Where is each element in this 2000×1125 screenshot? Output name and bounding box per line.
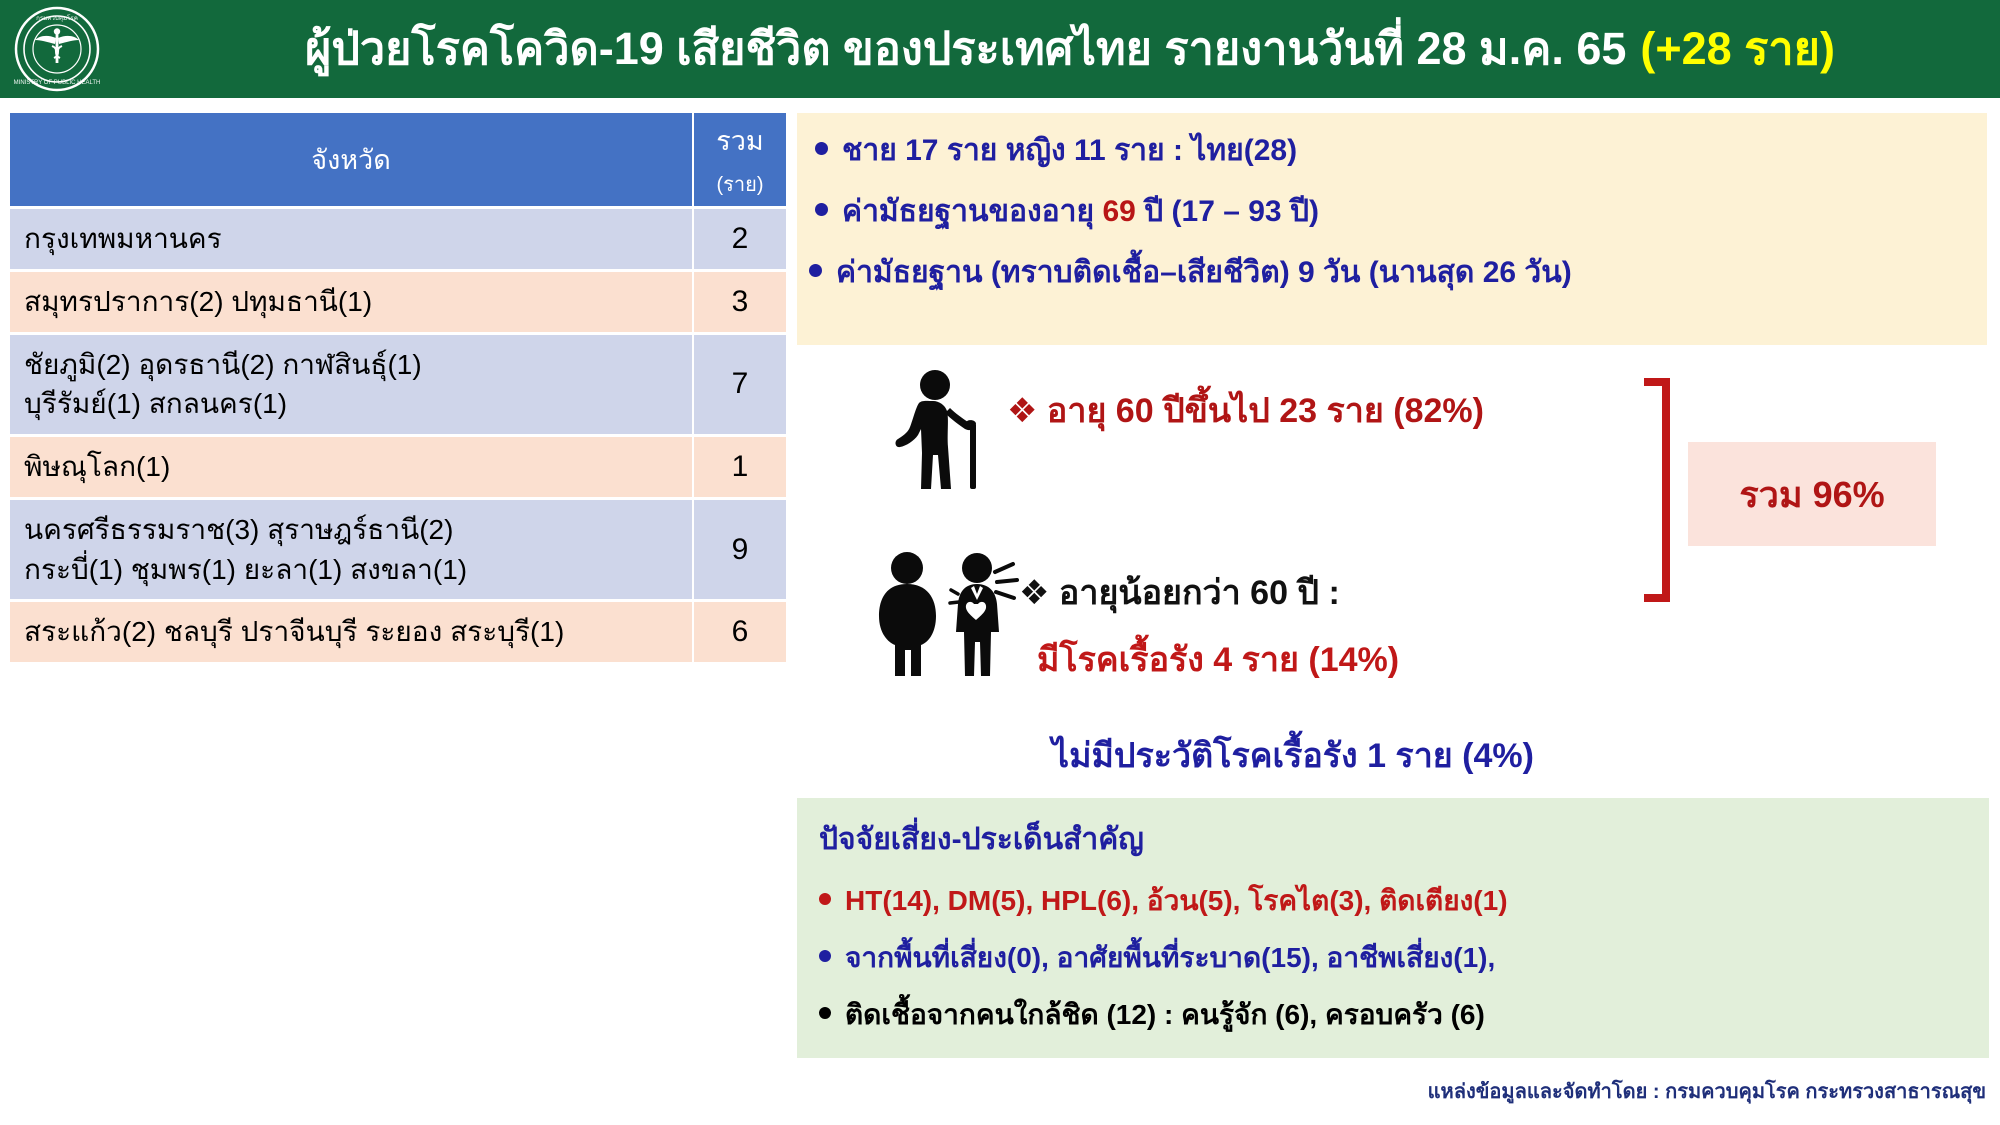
- median-age-prefix: ค่ามัธยฐานของอายุ: [842, 195, 1102, 228]
- table-row: กรุงเทพมหานคร2: [10, 209, 786, 269]
- risk-comorbidities-text: HT(14), DM(5), HPL(6), อ้วน(5), โรคไต(3)…: [845, 879, 1508, 923]
- risk-item-close-contact: ติดเชื้อจากคนใกล้ชิด (12) : คนรู้จัก (6)…: [819, 993, 1979, 1037]
- header-banner: กรมควบคุมโรค MINISTRY OF PUBLIC HEALTH ผ…: [0, 0, 2000, 98]
- column-header-province: จังหวัด: [10, 113, 692, 206]
- cell-total: 2: [694, 209, 786, 269]
- page-title: ผู้ป่วยโรคโควิด-19 เสียชีวิต ของประเทศไท…: [305, 0, 1626, 98]
- bullet-icon: [819, 950, 831, 962]
- province-line: นครศรีธรรมราช(3) สุราษฎร์ธานี(2): [24, 510, 678, 550]
- risk-factors-panel: ปัจจัยเสี่ยง-ประเด็นสำคัญ HT(14), DM(5),…: [797, 798, 1989, 1058]
- risk-factors-title: ปัจจัยเสี่ยง-ประเด็นสำคัญ: [819, 816, 1979, 863]
- ministry-of-public-health-seal-icon: กรมควบคุมโรค MINISTRY OF PUBLIC HEALTH: [14, 6, 100, 92]
- cell-provinces: นครศรีธรรมราช(3) สุราษฎร์ธานี(2)กระบี่(1…: [10, 500, 692, 600]
- combined-percentage-label: รวม 96%: [1739, 466, 1884, 523]
- table-body: กรุงเทพมหานคร2สมุทรปราการ(2) ปทุมธานี(1)…: [10, 209, 786, 662]
- table-row: สมุทรปราการ(2) ปทุมธานี(1)3: [10, 272, 786, 332]
- column-header-total-unit: (ราย): [698, 168, 782, 200]
- cell-total: 7: [694, 335, 786, 435]
- table-row: พิษณุโลก(1)1: [10, 437, 786, 497]
- cell-provinces: สระแก้ว(2) ชลบุรี ปราจีนบุรี ระยอง สระบุ…: [10, 602, 692, 662]
- province-line: กระบี่(1) ชุมพร(1) ยะลา(1) สงขลา(1): [24, 550, 678, 590]
- summary-item-median-age: ค่ามัธยฐานของอายุ 69 ปี (17 – 93 ปี): [815, 188, 1979, 235]
- column-header-total-label: รวม: [716, 126, 763, 156]
- cell-total: 3: [694, 272, 786, 332]
- summary-median-days-text: ค่ามัธยฐาน (ทราบติดเชื้อ–เสียชีวิต) 9 วั…: [836, 249, 1572, 296]
- infographic-page: กรมควบคุมโรค MINISTRY OF PUBLIC HEALTH ผ…: [0, 0, 2000, 1125]
- summary-item-median-days: ค่ามัธยฐาน (ทราบติดเชื้อ–เสียชีวิต) 9 วั…: [809, 249, 1979, 296]
- age-60-plus-line: ❖ อายุ 60 ปีขึ้นไป 23 ราย (82%): [1007, 383, 1484, 437]
- cell-provinces: พิษณุโลก(1): [10, 437, 692, 497]
- svg-text:MINISTRY OF PUBLIC HEALTH: MINISTRY OF PUBLIC HEALTH: [14, 80, 100, 86]
- median-age-value: 69: [1102, 195, 1135, 228]
- table-header-row: จังหวัด รวม (ราย): [10, 113, 786, 206]
- summary-sex-text: ชาย 17 ราย หญิง 11 ราย : ไทย(28): [842, 127, 1297, 174]
- risk-item-comorbidities: HT(14), DM(5), HPL(6), อ้วน(5), โรคไต(3)…: [819, 879, 1979, 923]
- cell-provinces: สมุทรปราการ(2) ปทุมธานี(1): [10, 272, 692, 332]
- bullet-icon: [809, 264, 822, 277]
- risk-item-exposure-area: จากพื้นที่เสี่ยง(0), อาศัยพื้นที่ระบาด(1…: [819, 936, 1979, 980]
- cell-total: 9: [694, 500, 786, 600]
- obese-and-chronic-illness-person-icon: [859, 550, 1029, 680]
- cell-total: 1: [694, 437, 786, 497]
- table-row: นครศรีธรรมราช(3) สุราษฎร์ธานี(2)กระบี่(1…: [10, 500, 786, 600]
- age-under-60-line: ❖ อายุน้อยกว่า 60 ปี :: [1019, 565, 1340, 619]
- case-summary-panel: ชาย 17 ราย หญิง 11 ราย : ไทย(28) ค่ามัธย…: [797, 113, 1987, 345]
- province-line: กรุงเทพมหานคร: [24, 219, 678, 259]
- median-age-suffix: ปี (17 – 93 ปี): [1136, 195, 1319, 228]
- grouping-bracket: [1644, 378, 1670, 602]
- no-chronic-disease-line: ไม่มีประวัติโรคเรื้อรัง 1 ราย (4%): [1052, 728, 1534, 782]
- source-footer: แหล่งข้อมูลและจัดทำโดย : กรมควบคุมโรค กร…: [1428, 1075, 1986, 1107]
- province-line: สระแก้ว(2) ชลบุรี ปราจีนบุรี ระยอง สระบุ…: [24, 612, 678, 652]
- svg-text:กรมควบคุมโรค: กรมควบคุมโรค: [36, 14, 78, 22]
- province-deaths-table: จังหวัด รวม (ราย) กรุงเทพมหานคร2สมุทรปรา…: [8, 110, 788, 665]
- risk-exposure-area-text: จากพื้นที่เสี่ยง(0), อาศัยพื้นที่ระบาด(1…: [845, 936, 1495, 980]
- combined-percentage-box: รวม 96%: [1688, 442, 1936, 546]
- header-title-group: ผู้ป่วยโรคโควิด-19 เสียชีวิต ของประเทศไท…: [150, 0, 1990, 98]
- province-line: บุรีรัมย์(1) สกลนคร(1): [24, 384, 678, 424]
- column-header-province-label: จังหวัด: [311, 145, 391, 175]
- column-header-total: รวม (ราย): [694, 113, 786, 206]
- risk-close-contact-text: ติดเชื้อจากคนใกล้ชิด (12) : คนรู้จัก (6)…: [845, 993, 1485, 1037]
- table-row: ชัยภูมิ(2) อุดรธานี(2) กาฬสินธุ์(1)บุรีร…: [10, 335, 786, 435]
- province-line: ชัยภูมิ(2) อุดรธานี(2) กาฬสินธุ์(1): [24, 345, 678, 385]
- province-line: สมุทรปราการ(2) ปทุมธานี(1): [24, 282, 678, 322]
- bullet-icon: [815, 203, 828, 216]
- bullet-icon: [819, 893, 831, 905]
- with-chronic-disease-line: มีโรคเรื้อรัง 4 ราย (14%): [1037, 632, 1399, 686]
- table-row: สระแก้ว(2) ชลบุรี ปราจีนบุรี ระยอง สระบุ…: [10, 602, 786, 662]
- province-line: พิษณุโลก(1): [24, 447, 678, 487]
- elderly-person-with-cane-icon: [875, 363, 1005, 493]
- cell-provinces: ชัยภูมิ(2) อุดรธานี(2) กาฬสินธุ์(1)บุรีร…: [10, 335, 692, 435]
- bullet-icon: [815, 142, 828, 155]
- cell-provinces: กรุงเทพมหานคร: [10, 209, 692, 269]
- bullet-icon: [819, 1007, 831, 1019]
- new-deaths-badge: (+28 ราย): [1640, 0, 1835, 98]
- summary-item-sex: ชาย 17 ราย หญิง 11 ราย : ไทย(28): [815, 127, 1979, 174]
- cell-total: 6: [694, 602, 786, 662]
